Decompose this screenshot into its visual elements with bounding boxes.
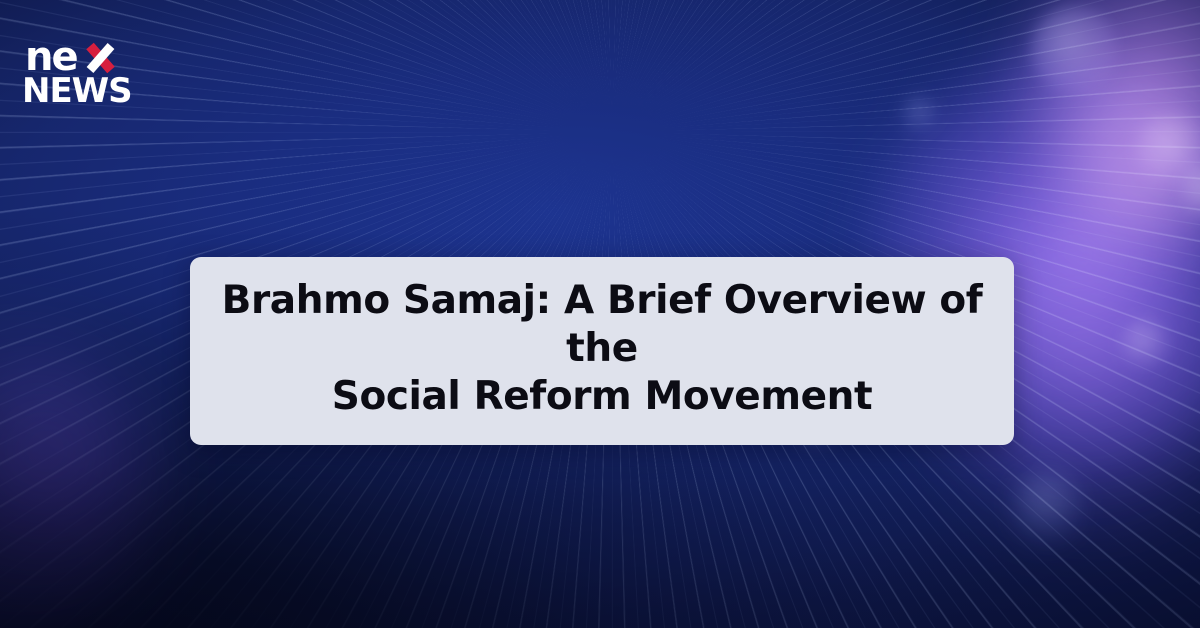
article-banner: ne NEWS Brahmo Samaj: A Brief Overview o… (0, 0, 1200, 628)
nexnews-logo[interactable]: ne NEWS (18, 28, 138, 106)
logo-news-text: NEWS (22, 71, 132, 106)
page-title: Brahmo Samaj: A Brief Overview of the So… (220, 277, 984, 421)
headline-card: Brahmo Samaj: A Brief Overview of the So… (190, 257, 1014, 445)
